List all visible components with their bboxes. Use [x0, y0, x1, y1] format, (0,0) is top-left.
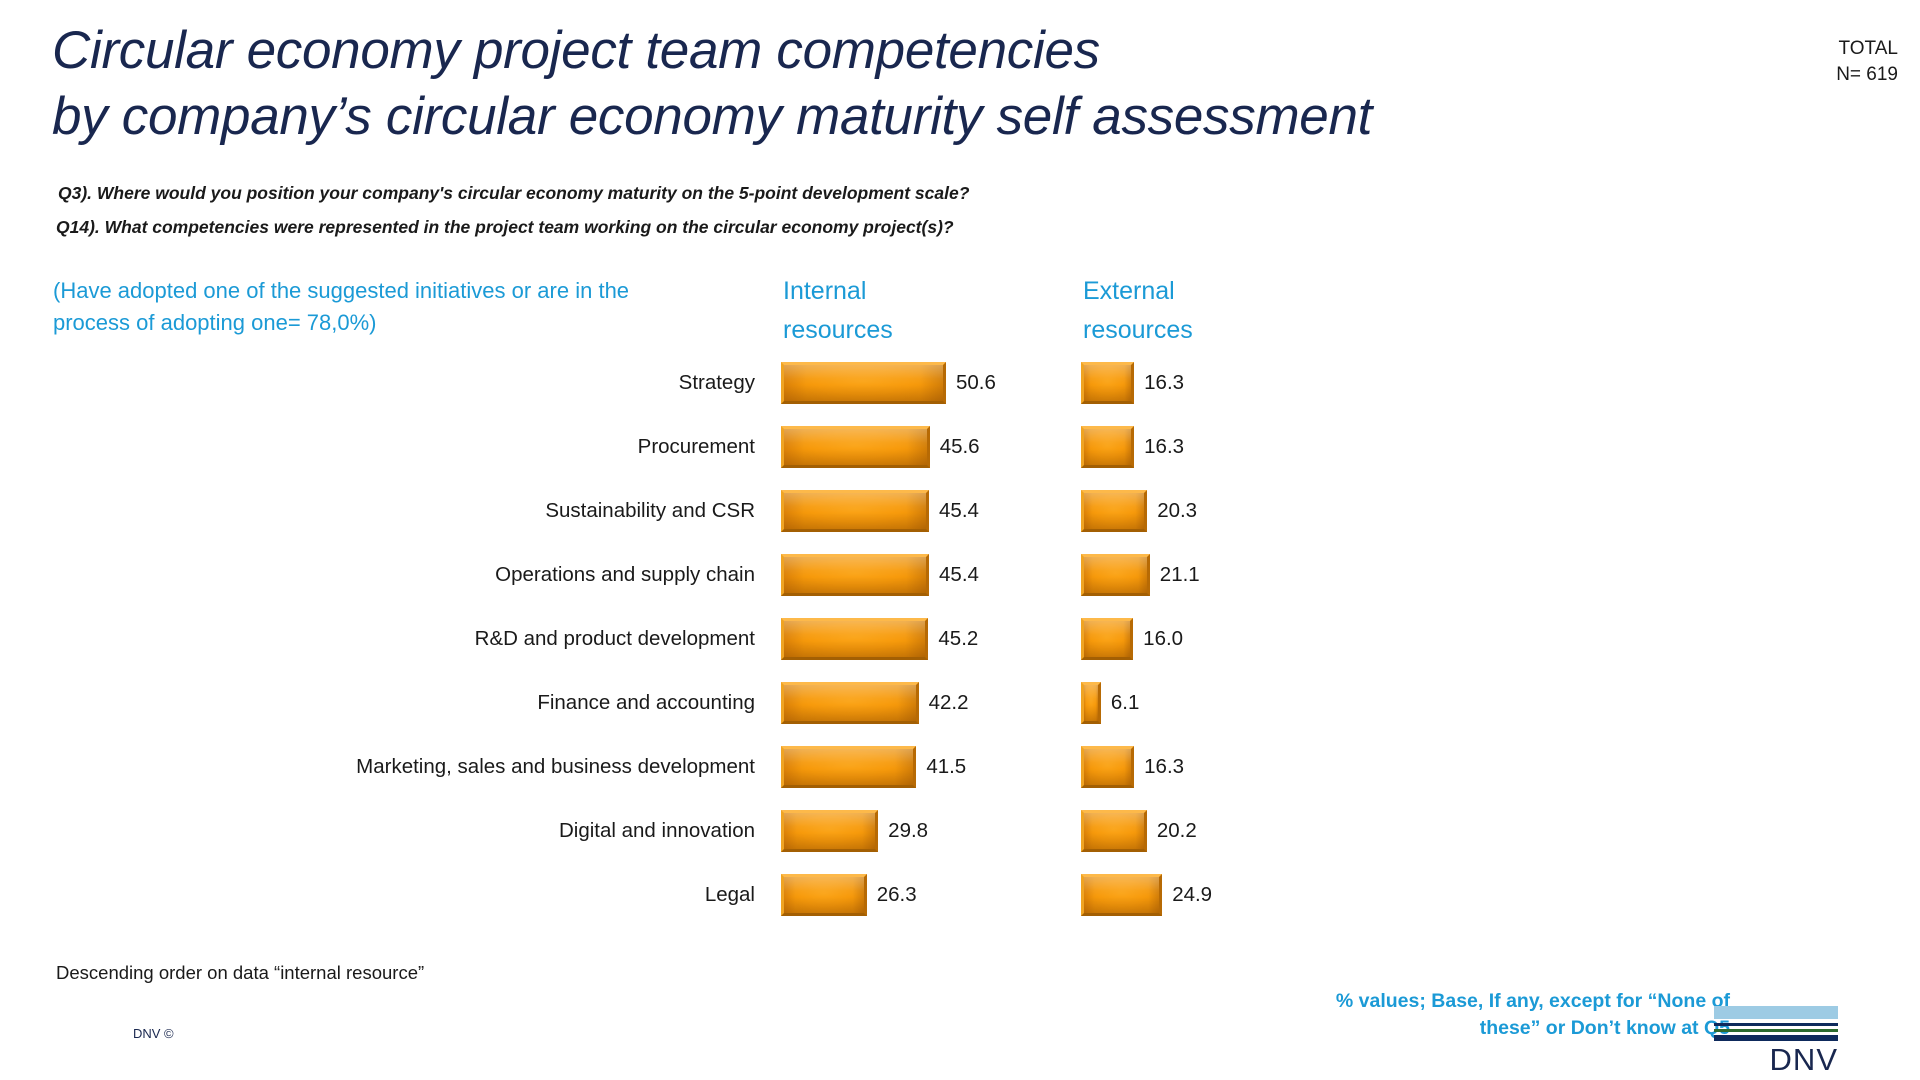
- total-label: TOTAL: [1836, 36, 1898, 62]
- bar-group-internal: 45.6: [781, 426, 980, 468]
- logo-bar-navy-thick: [1714, 1035, 1838, 1041]
- bar-group-external: 16.0: [1081, 618, 1183, 660]
- bar-value-label: 20.3: [1157, 499, 1197, 523]
- bar-value-label: 50.6: [956, 371, 996, 395]
- copyright-note: DNV ©: [133, 1026, 174, 1041]
- bar: [1081, 746, 1134, 788]
- source-note: % values; Base, If any, except for “None…: [1310, 988, 1730, 1042]
- bar-value-label: 21.1: [1160, 563, 1200, 587]
- chart-row: Operations and supply chain45.421.1: [0, 548, 1920, 612]
- chart-row: Strategy50.616.3: [0, 356, 1920, 420]
- page-title: Circular economy project team competenci…: [52, 18, 1772, 150]
- bar-value-label: 45.4: [939, 563, 979, 587]
- bar: [781, 874, 867, 916]
- logo-bar-navy-thin: [1714, 1023, 1838, 1026]
- bar: [1081, 618, 1133, 660]
- bar: [1081, 554, 1150, 596]
- logo-bar-green: [1714, 1029, 1838, 1032]
- bar: [1081, 426, 1134, 468]
- column-header-internal: Internal resources: [783, 272, 893, 350]
- page-title-line-2: by company’s circular economy maturity s…: [52, 84, 1772, 150]
- bar-group-internal: 42.2: [781, 682, 969, 724]
- category-label: Marketing, sales and business developmen…: [356, 754, 755, 780]
- bar: [781, 490, 929, 532]
- bar-value-label: 16.3: [1144, 371, 1184, 395]
- bar-group-external: 24.9: [1081, 874, 1212, 916]
- question-q14: Q14). What competencies were represented…: [56, 217, 954, 238]
- bar-value-label: 42.2: [929, 691, 969, 715]
- bar: [1081, 490, 1147, 532]
- category-label: Operations and supply chain: [495, 562, 755, 588]
- category-label: Legal: [705, 882, 755, 908]
- bar: [1081, 874, 1162, 916]
- category-label: Strategy: [679, 370, 755, 396]
- category-label: R&D and product development: [475, 626, 755, 652]
- bar: [1081, 362, 1134, 404]
- bar-group-internal: 45.2: [781, 618, 978, 660]
- bar-value-label: 29.8: [888, 819, 928, 843]
- bar-value-label: 26.3: [877, 883, 917, 907]
- bar: [781, 746, 916, 788]
- chart-row: Procurement45.616.3: [0, 420, 1920, 484]
- bar-group-external: 21.1: [1081, 554, 1200, 596]
- bar-value-label: 20.2: [1157, 819, 1197, 843]
- bar-group-external: 16.3: [1081, 362, 1184, 404]
- chart-row: R&D and product development45.216.0: [0, 612, 1920, 676]
- bar-group-internal: 29.8: [781, 810, 928, 852]
- total-value: N= 619: [1836, 62, 1898, 88]
- category-label: Digital and innovation: [559, 818, 755, 844]
- dnv-logo: DNV: [1714, 1006, 1838, 1077]
- chart-row: Sustainability and CSR45.420.3: [0, 484, 1920, 548]
- bar-group-internal: 45.4: [781, 554, 979, 596]
- chart-row: Marketing, sales and business developmen…: [0, 740, 1920, 804]
- chart-row: Digital and innovation29.820.2: [0, 804, 1920, 868]
- column-header-external: External resources: [1083, 272, 1193, 350]
- bar-group-external: 16.3: [1081, 426, 1184, 468]
- bar: [781, 682, 919, 724]
- question-q3: Q3). Where would you position your compa…: [58, 183, 969, 204]
- category-label: Sustainability and CSR: [545, 498, 755, 524]
- bar-group-external: 6.1: [1081, 682, 1139, 724]
- bar: [1081, 810, 1147, 852]
- bar-group-internal: 50.6: [781, 362, 996, 404]
- logo-wordmark: DNV: [1714, 1043, 1838, 1077]
- bar-value-label: 16.0: [1143, 627, 1183, 651]
- bar: [781, 426, 930, 468]
- bar-group-external: 20.3: [1081, 490, 1197, 532]
- adoption-note: (Have adopted one of the suggested initi…: [53, 275, 673, 339]
- bar-value-label: 45.2: [938, 627, 978, 651]
- bar-chart: Strategy50.616.3Procurement45.616.3Susta…: [0, 356, 1920, 932]
- bar-value-label: 45.4: [939, 499, 979, 523]
- sort-note: Descending order on data “internal resou…: [56, 962, 424, 984]
- logo-bar-light-blue: [1714, 1006, 1838, 1019]
- total-base-box: TOTAL N= 619: [1836, 36, 1898, 88]
- category-label: Finance and accounting: [537, 690, 755, 716]
- bar: [781, 362, 946, 404]
- bar-value-label: 16.3: [1144, 755, 1184, 779]
- category-label: Procurement: [638, 434, 755, 460]
- bar: [781, 554, 929, 596]
- bar: [781, 810, 878, 852]
- bar: [1081, 682, 1101, 724]
- bar-group-internal: 41.5: [781, 746, 966, 788]
- bar-value-label: 16.3: [1144, 435, 1184, 459]
- bar-value-label: 45.6: [940, 435, 980, 459]
- chart-row: Legal26.324.9: [0, 868, 1920, 932]
- bar-value-label: 24.9: [1172, 883, 1212, 907]
- bar-group-external: 20.2: [1081, 810, 1197, 852]
- page-title-line-1: Circular economy project team competenci…: [52, 18, 1772, 84]
- bar: [781, 618, 928, 660]
- bar-group-internal: 26.3: [781, 874, 917, 916]
- bar-value-label: 6.1: [1111, 691, 1140, 715]
- bar-value-label: 41.5: [926, 755, 966, 779]
- bar-group-internal: 45.4: [781, 490, 979, 532]
- bar-group-external: 16.3: [1081, 746, 1184, 788]
- chart-row: Finance and accounting42.26.1: [0, 676, 1920, 740]
